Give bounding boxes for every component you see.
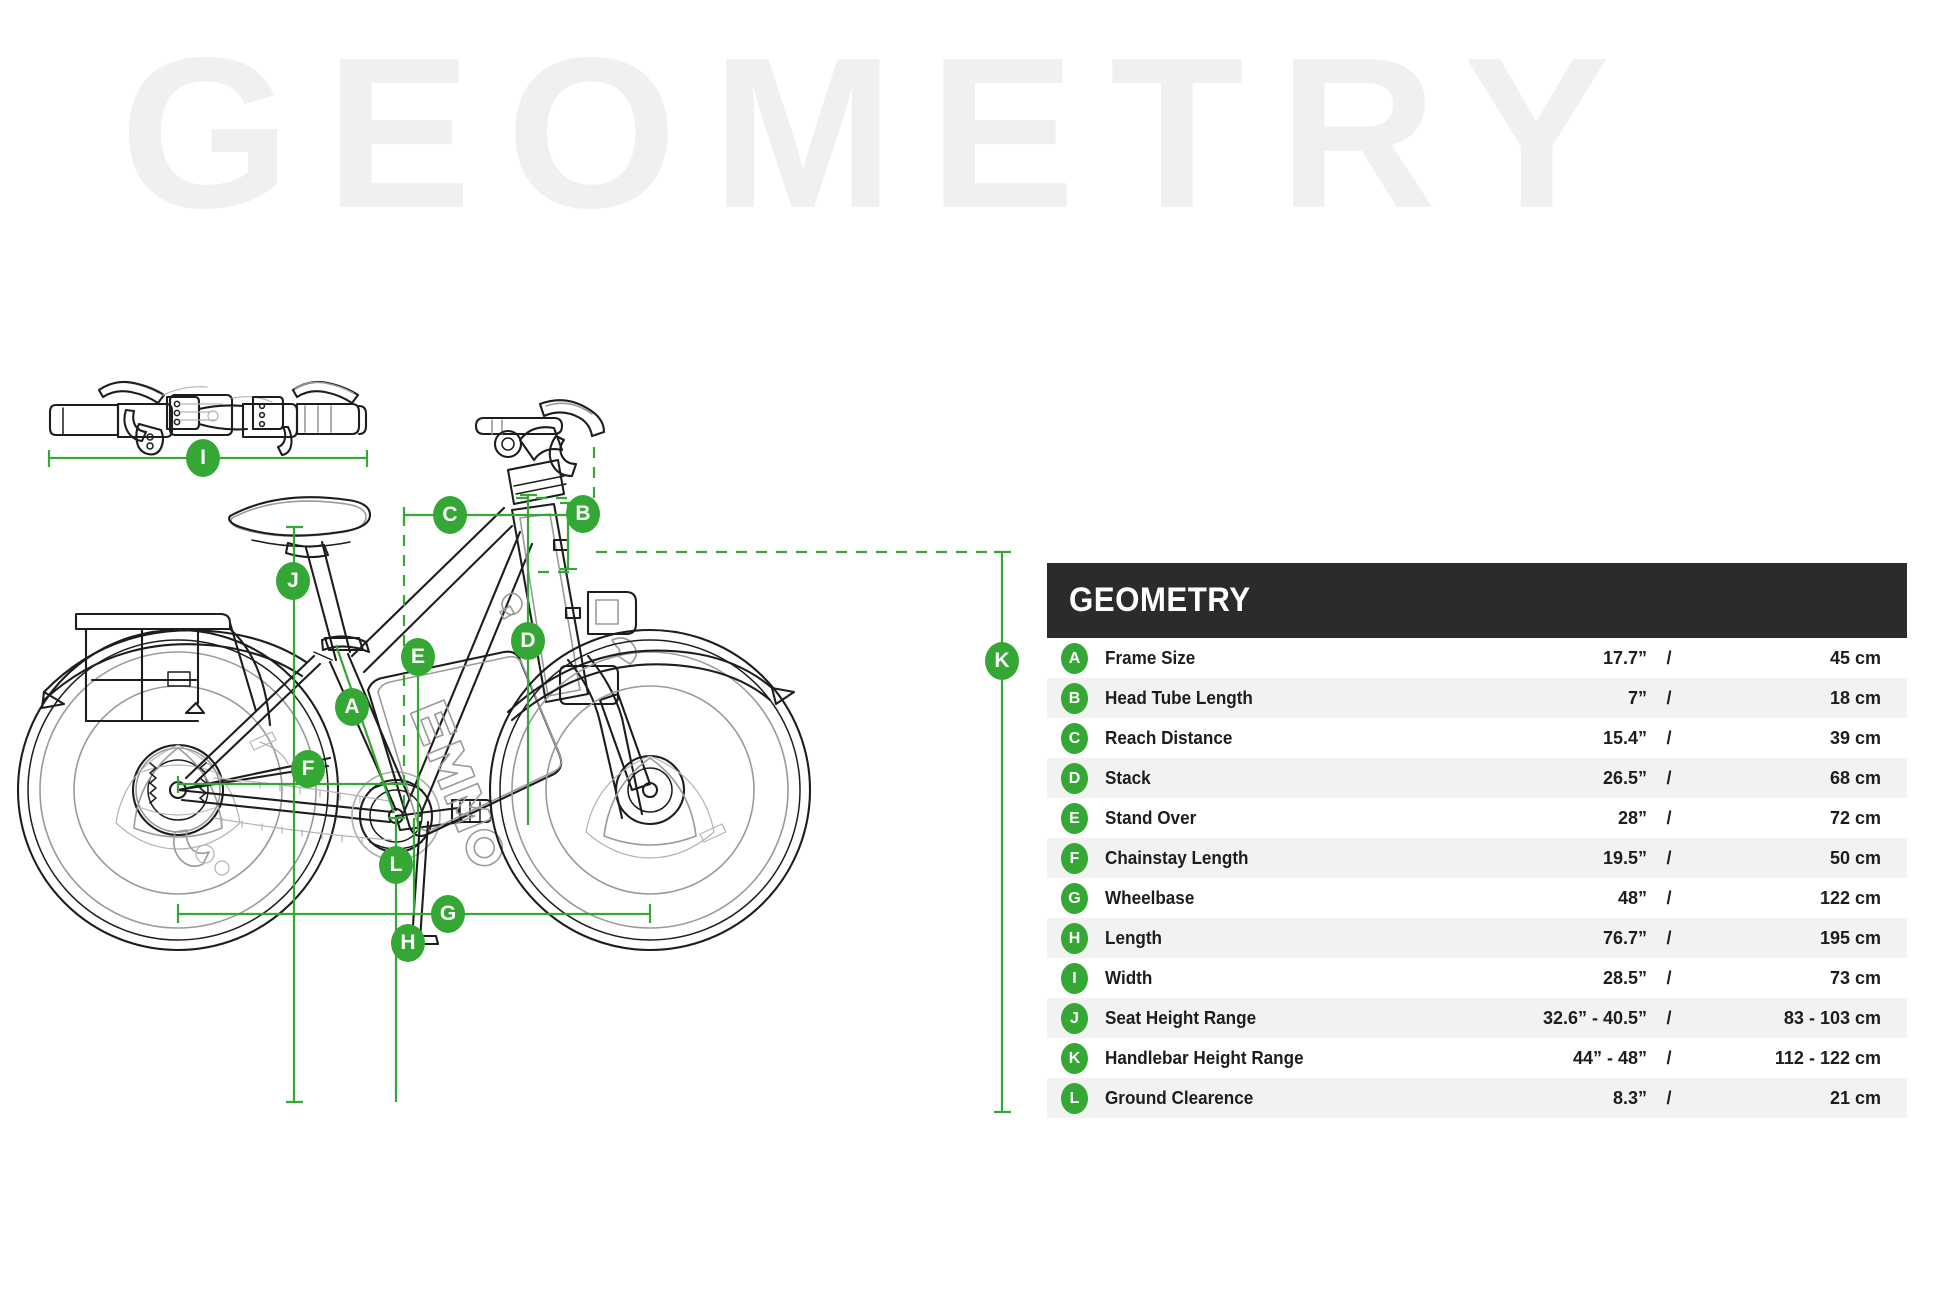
- row-badge-I: I: [1061, 963, 1088, 994]
- table-row: D Stack 26.5” / 68 cm: [1047, 758, 1907, 798]
- row-value-inches: 48”: [1347, 888, 1647, 909]
- geometry-spec-table: GEOMETRY A Frame Size 17.7” / 45 cm B He…: [1047, 563, 1907, 1118]
- row-value-inches: 28.5”: [1347, 968, 1647, 989]
- row-value-cm: 45 cm: [1691, 648, 1881, 669]
- diagram-marker-C: C: [433, 496, 467, 534]
- diagram-marker-L: L: [379, 846, 413, 884]
- row-badge-A: A: [1061, 643, 1088, 674]
- table-row: G Wheelbase 48” / 122 cm: [1047, 878, 1907, 918]
- row-badge-F: F: [1061, 843, 1088, 874]
- row-value-cm: 73 cm: [1691, 968, 1881, 989]
- diagram-marker-F: F: [291, 750, 325, 788]
- table-row: C Reach Distance 15.4” / 39 cm: [1047, 718, 1907, 758]
- row-separator: /: [1647, 1088, 1691, 1109]
- geometry-spec-page: GEOMETRY .ln { fill:none; stroke:#1d1d1b…: [0, 0, 1946, 1297]
- row-separator: /: [1647, 768, 1691, 789]
- row-value-cm: 112 - 122 cm: [1691, 1048, 1881, 1069]
- row-label: Stand Over: [1105, 808, 1335, 829]
- dimension-D-stack: [520, 495, 537, 825]
- diagram-marker-K: K: [985, 642, 1019, 680]
- row-separator: /: [1647, 648, 1691, 669]
- row-separator: /: [1647, 848, 1691, 869]
- diagram-marker-A: A: [335, 688, 369, 726]
- row-badge-B: B: [1061, 683, 1088, 714]
- diagram-marker-B: B: [566, 495, 600, 533]
- row-value-cm: 39 cm: [1691, 728, 1881, 749]
- row-label: Seat Height Range: [1105, 1008, 1335, 1029]
- row-value-inches: 76.7”: [1347, 928, 1647, 949]
- diagram-marker-J: J: [276, 562, 310, 600]
- table-row: L Ground Clearence 8.3” / 21 cm: [1047, 1078, 1907, 1118]
- row-badge-K: K: [1061, 1043, 1088, 1074]
- row-badge-G: G: [1061, 883, 1088, 914]
- row-label: Frame Size: [1105, 648, 1335, 669]
- table-row: H Length 76.7” / 195 cm: [1047, 918, 1907, 958]
- row-label: Length: [1105, 928, 1335, 949]
- row-separator: /: [1647, 928, 1691, 949]
- row-label: Wheelbase: [1105, 888, 1335, 909]
- row-separator: /: [1647, 968, 1691, 989]
- row-badge-E: E: [1061, 803, 1088, 834]
- table-row: F Chainstay Length 19.5” / 50 cm: [1047, 838, 1907, 878]
- table-row: E Stand Over 28” / 72 cm: [1047, 798, 1907, 838]
- row-value-inches: 26.5”: [1347, 768, 1647, 789]
- emmo-logo: [411, 700, 508, 871]
- diagram-marker-H: H: [391, 924, 425, 962]
- row-value-inches: 28”: [1347, 808, 1647, 829]
- row-separator: /: [1647, 688, 1691, 709]
- row-badge-H: H: [1061, 923, 1088, 954]
- diagram-marker-G: G: [431, 895, 465, 933]
- row-label: Ground Clearence: [1105, 1088, 1335, 1109]
- row-value-cm: 122 cm: [1691, 888, 1881, 909]
- row-value-inches: 17.7”: [1347, 648, 1647, 669]
- row-value-inches: 15.4”: [1347, 728, 1647, 749]
- row-badge-L: L: [1061, 1083, 1088, 1114]
- table-row: I Width 28.5” / 73 cm: [1047, 958, 1907, 998]
- row-value-cm: 18 cm: [1691, 688, 1881, 709]
- row-badge-C: C: [1061, 723, 1088, 754]
- row-value-inches: 32.6” - 40.5”: [1347, 1008, 1647, 1029]
- row-value-cm: 68 cm: [1691, 768, 1881, 789]
- row-label: Reach Distance: [1105, 728, 1335, 749]
- row-separator: /: [1647, 888, 1691, 909]
- row-label: Head Tube Length: [1105, 688, 1335, 709]
- row-separator: /: [1647, 1048, 1691, 1069]
- row-value-cm: 72 cm: [1691, 808, 1881, 829]
- row-value-inches: 19.5”: [1347, 848, 1647, 869]
- table-row: J Seat Height Range 32.6” - 40.5” / 83 -…: [1047, 998, 1907, 1038]
- diagram-marker-D: D: [511, 622, 545, 660]
- row-badge-J: J: [1061, 1003, 1088, 1034]
- spec-table-body: A Frame Size 17.7” / 45 cm B Head Tube L…: [1047, 638, 1907, 1118]
- diagram-marker-E: E: [401, 638, 435, 676]
- row-separator: /: [1647, 728, 1691, 749]
- table-row: B Head Tube Length 7” / 18 cm: [1047, 678, 1907, 718]
- row-separator: /: [1647, 808, 1691, 829]
- row-value-inches: 8.3”: [1347, 1088, 1647, 1109]
- row-value-cm: 50 cm: [1691, 848, 1881, 869]
- row-label: Chainstay Length: [1105, 848, 1335, 869]
- table-row: K Handlebar Height Range 44” - 48” / 112…: [1047, 1038, 1907, 1078]
- row-label: Stack: [1105, 768, 1335, 789]
- diagram-marker-I: I: [186, 439, 220, 477]
- spec-table-title: GEOMETRY: [1069, 581, 1251, 620]
- row-value-inches: 44” - 48”: [1347, 1048, 1647, 1069]
- row-value-cm: 21 cm: [1691, 1088, 1881, 1109]
- row-value-inches: 7”: [1347, 688, 1647, 709]
- row-value-cm: 83 - 103 cm: [1691, 1008, 1881, 1029]
- row-separator: /: [1647, 1008, 1691, 1029]
- spec-table-header: GEOMETRY: [1047, 563, 1907, 638]
- dimension-J-seat-height: [286, 527, 303, 1102]
- row-label: Width: [1105, 968, 1335, 989]
- row-label: Handlebar Height Range: [1105, 1048, 1335, 1069]
- row-badge-D: D: [1061, 763, 1088, 794]
- row-value-cm: 195 cm: [1691, 928, 1881, 949]
- table-row: A Frame Size 17.7” / 45 cm: [1047, 638, 1907, 678]
